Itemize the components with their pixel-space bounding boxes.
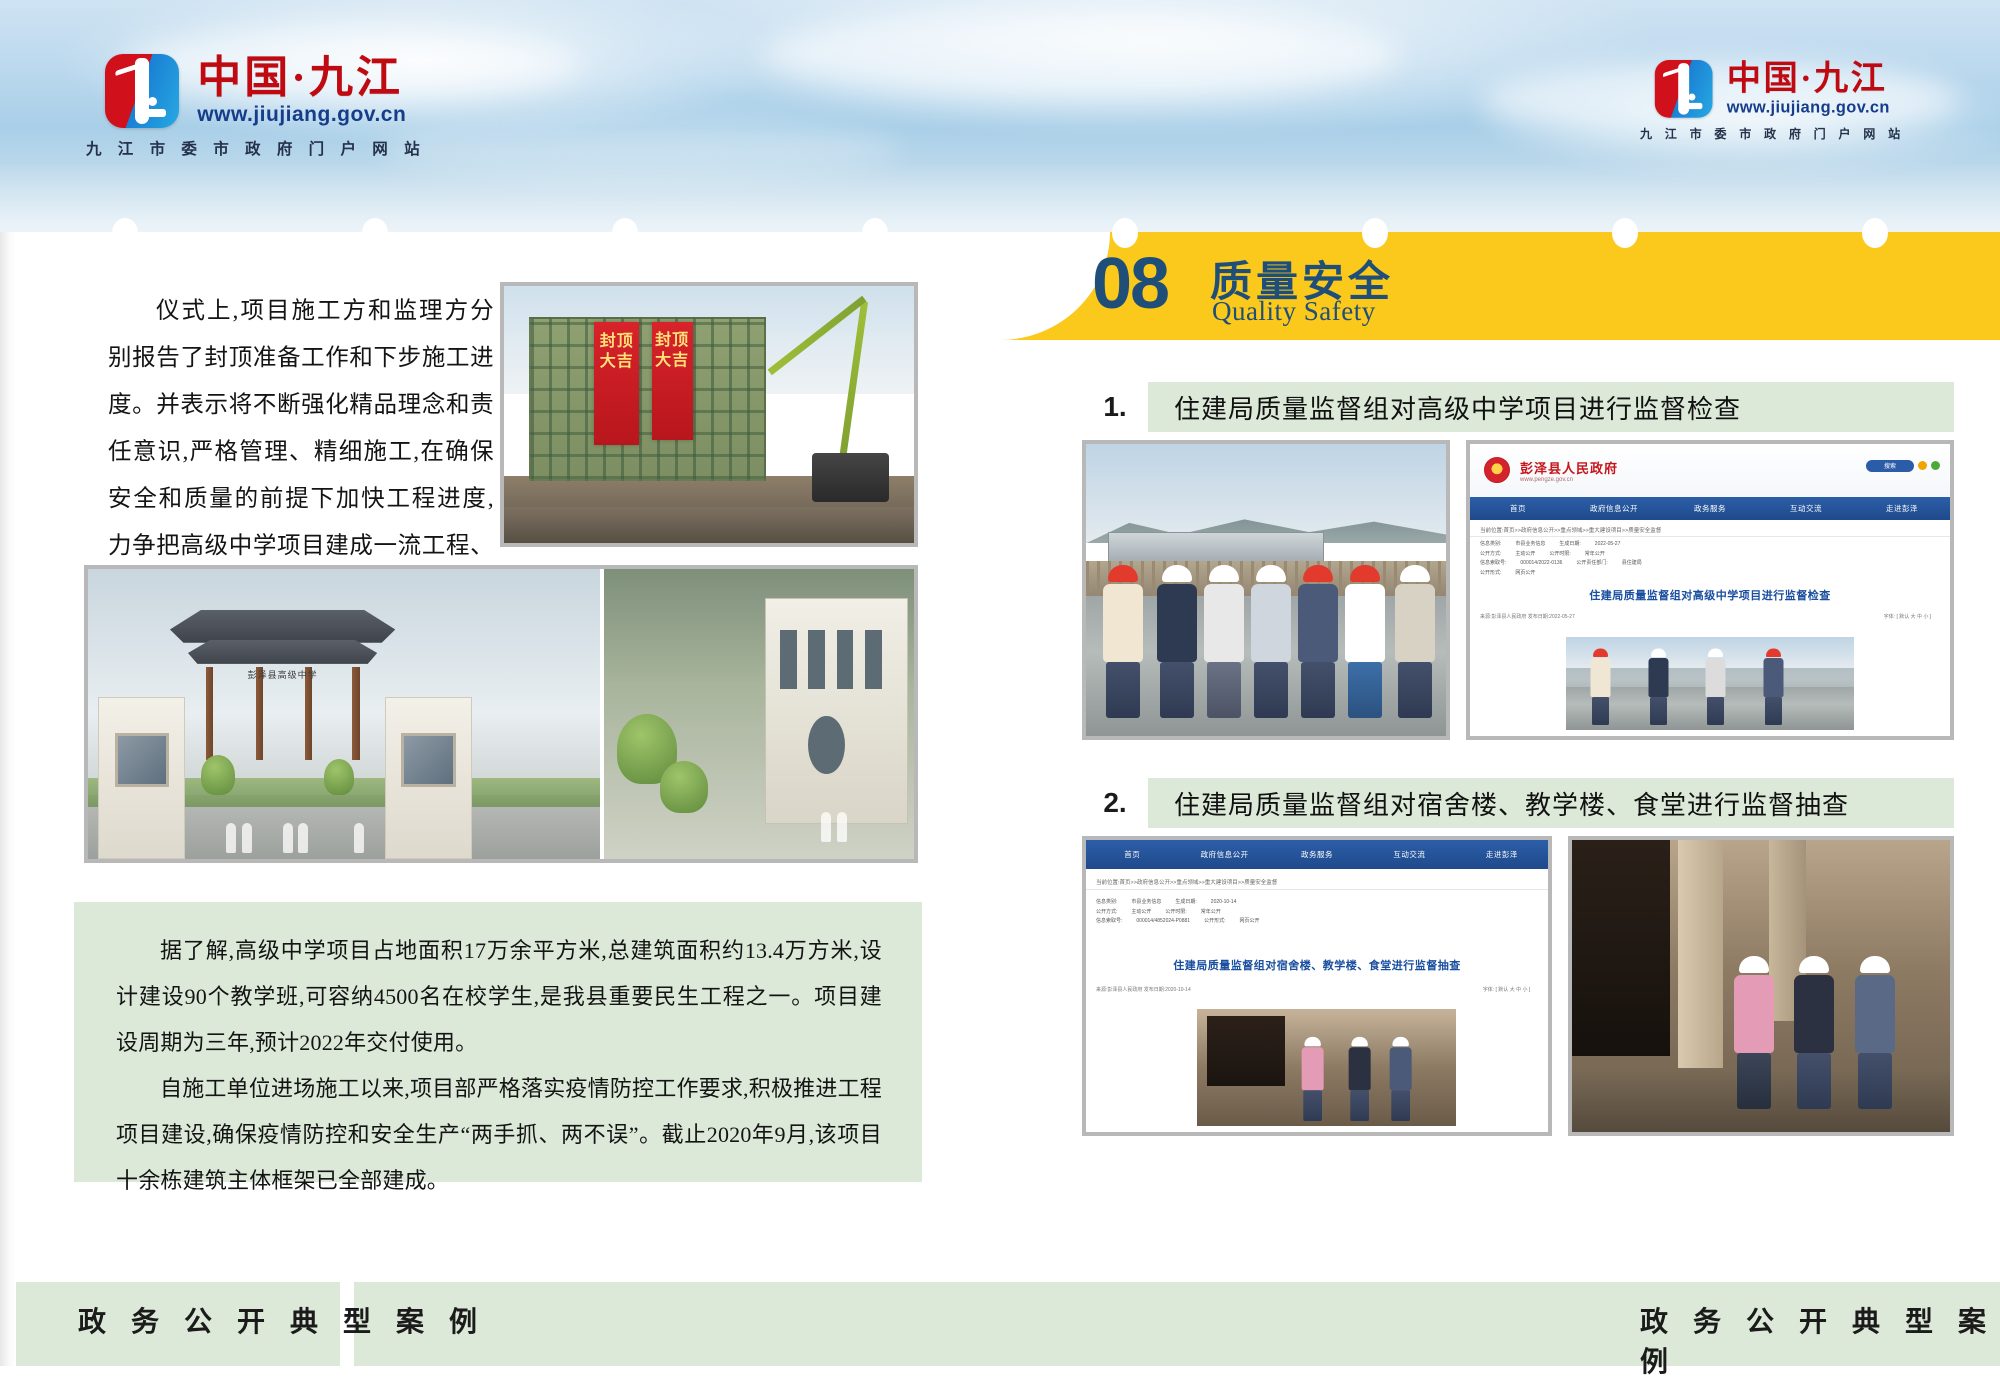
search-button[interactable]: 搜索 <box>1866 460 1914 472</box>
meta-value: 网页公开 <box>1515 569 1535 579</box>
brand-url: www.jiujiang.gov.cn <box>197 103 406 127</box>
webpage-article-photo-2 <box>1197 1009 1456 1126</box>
webpage-breadcrumb-1: 当前位置:首页>>政府信息公开>>重点领域>>重大建设项目>>质量安全监督 <box>1470 523 1950 538</box>
webpage-fontsize-2[interactable]: 字体: [ 默认 大 中 小 ] <box>1483 986 1531 993</box>
section-title-en: Quality Safety <box>1212 296 1376 327</box>
meta-value: 主动公开 <box>1131 908 1151 918</box>
meta-label: 信息类别: <box>1480 540 1501 550</box>
footer-caption-right: 政 务 公 开 典 型 案 例 <box>1640 1300 2000 1380</box>
meta-label: 信息类别: <box>1096 898 1117 908</box>
school-name-label: 彭泽县高级中学 <box>170 668 395 681</box>
nav-item[interactable]: 政府信息公开 <box>1178 849 1270 860</box>
site-logo-right: 中国·九江 www.jiujiang.gov.cn 九 江 市 委 市 政 府 … <box>1640 60 1905 142</box>
nav-item[interactable]: 首页 <box>1086 849 1178 860</box>
webpage-site-url-1: www.pengze.gov.cn <box>1520 477 1618 483</box>
brand-title: 中国·九江 <box>197 55 406 101</box>
meta-label: 生成日期: <box>1175 898 1196 908</box>
nav-item[interactable]: 政务服务 <box>1271 849 1363 860</box>
jiujiang-logo-icon <box>105 54 179 128</box>
meta-value: 2020-10-14 <box>1211 898 1237 908</box>
weibo-icon[interactable] <box>1931 461 1940 470</box>
webpage-meta-1: 信息类别: 市县业务信息 生成日期: 2022-05-27 公开方式: 主动公开… <box>1480 540 1931 578</box>
nav-item[interactable]: 政务服务 <box>1662 503 1758 514</box>
nav-item[interactable]: 政府信息公开 <box>1566 503 1662 514</box>
meta-value: 市县业务信息 <box>1131 898 1161 908</box>
meta-label: 公开形式: <box>1204 917 1225 927</box>
meta-label: 公开时限: <box>1549 550 1570 560</box>
punch-hole-row <box>0 218 2000 252</box>
banner-text: 封顶大吉 <box>652 331 693 371</box>
meta-value: 000014/4852024-P0881 <box>1136 917 1190 927</box>
brand-url: www.jiujiang.gov.cn <box>1727 98 1890 117</box>
subsection-header-1: 1. 住建局质量监督组对高级中学项目进行监督检查 <box>1082 382 1954 432</box>
meta-value: 000014/2022-0136 <box>1520 559 1562 569</box>
webpage-fontsize-1[interactable]: 字体: [ 默认 大 中 小 ] <box>1884 613 1932 620</box>
government-webpage-screenshot-1: 彭泽县人民政府 www.pengze.gov.cn 搜索 首页 政府信息公开 政… <box>1466 440 1954 740</box>
subsection-number-1: 1. <box>1082 382 1148 432</box>
nav-item[interactable]: 互动交流 <box>1758 503 1854 514</box>
webpage-source-date-1: 来源:彭泽县人民政府 发布日期:2022-05-27 <box>1480 613 1575 620</box>
site-inspection-photo-2 <box>1568 836 1954 1136</box>
meta-label: 公开时限: <box>1165 908 1186 918</box>
site-logo-left: 中国·九江 www.jiujiang.gov.cn 九 江 市 委 市 政 府 … <box>86 54 426 159</box>
subsection-number-2: 2. <box>1082 778 1148 828</box>
project-info-paragraph-1: 据了解,高级中学项目占地面积17万余平方米,总建筑面积约13.4万方米,设计建设… <box>116 928 882 1066</box>
subsection-header-2: 2. 住建局质量监督组对宿舍楼、教学楼、食堂进行监督抽查 <box>1082 778 1954 828</box>
meta-label: 信息索取号: <box>1480 559 1506 569</box>
meta-value: 市县业务信息 <box>1515 540 1545 550</box>
page-spine <box>0 232 16 1366</box>
meta-value: 网页公开 <box>1239 917 1259 927</box>
webpage-article-photo-1 <box>1566 637 1854 730</box>
nav-item[interactable]: 互动交流 <box>1363 849 1455 860</box>
webpage-tools-2: 来源:彭泽县人民政府 发布日期:2020-10-14 字体: [ 默认 大 中 … <box>1096 986 1530 993</box>
nav-item[interactable]: 走进彭泽 <box>1456 849 1548 860</box>
meta-value: 县住建局 <box>1622 559 1642 569</box>
brand-subtitle: 九 江 市 委 市 政 府 门 户 网 站 <box>86 137 426 159</box>
nav-item[interactable]: 首页 <box>1470 503 1566 514</box>
meta-label: 公开责任部门: <box>1576 559 1607 569</box>
webpage-search-area-1[interactable]: 搜索 <box>1866 460 1940 472</box>
topping-out-ceremony-photo: 封顶大吉 封顶大吉 <box>500 282 918 547</box>
meta-value: 2022-05-27 <box>1595 540 1621 550</box>
webpage-article-title-1: 住建局质量监督组对高级中学项目进行监督检查 <box>1470 587 1950 603</box>
cloud-decor <box>380 120 900 180</box>
site-inspection-photo-1 <box>1082 440 1450 740</box>
banner-text: 封顶大吉 <box>594 332 639 372</box>
webpage-site-name-1: 彭泽县人民政府 <box>1520 458 1618 477</box>
meta-value: 常年公开 <box>1585 550 1605 560</box>
subsection-title-2: 住建局质量监督组对宿舍楼、教学楼、食堂进行监督抽查 <box>1174 785 1849 822</box>
meta-label: 公开形式: <box>1480 569 1501 579</box>
jiujiang-logo-icon <box>1655 60 1713 118</box>
subsection-title-1: 住建局质量监督组对高级中学项目进行监督检查 <box>1174 389 1741 426</box>
webpage-breadcrumb-2: 当前位置:首页>>政府信息公开>>重点领域>>重大建设项目>>质量安全监督 <box>1086 875 1548 890</box>
project-info-paragraph-2: 自施工单位进场施工以来,项目部严格落实疫情防控工作要求,积极推进工程项目建设,确… <box>116 1066 882 1204</box>
meta-label: 生成日期: <box>1559 540 1580 550</box>
nav-item[interactable]: 走进彭泽 <box>1854 503 1950 514</box>
webpage-source-date-2: 来源:彭泽县人民政府 发布日期:2020-10-14 <box>1096 986 1191 993</box>
government-webpage-screenshot-2: 首页 政府信息公开 政务服务 互动交流 走进彭泽 当前位置:首页>>政府信息公开… <box>1082 836 1552 1136</box>
webpage-header-1: 彭泽县人民政府 www.pengze.gov.cn 搜索 <box>1470 444 1950 497</box>
national-emblem-icon <box>1484 457 1510 483</box>
school-architectural-rendering: 彭泽县高级中学 <box>84 565 918 863</box>
webpage-tools-1: 来源:彭泽县人民政府 发布日期:2022-05-27 字体: [ 默认 大 中 … <box>1480 613 1931 620</box>
footer-caption-left: 政 务 公 开 典 型 案 例 <box>78 1300 486 1340</box>
section-number: 08 <box>1092 243 1168 325</box>
project-info-panel: 据了解,高级中学项目占地面积17万余平方米,总建筑面积约13.4万方米,设计建设… <box>74 902 922 1182</box>
meta-value: 常年公开 <box>1201 908 1221 918</box>
brand-title: 中国·九江 <box>1727 61 1890 97</box>
meta-label: 公开方式: <box>1096 908 1117 918</box>
meta-value: 主动公开 <box>1515 550 1535 560</box>
meta-label: 公开方式: <box>1480 550 1501 560</box>
wechat-icon[interactable] <box>1918 461 1927 470</box>
brand-subtitle: 九 江 市 委 市 政 府 门 户 网 站 <box>1640 125 1905 142</box>
webpage-article-title-2: 住建局质量监督组对宿舍楼、教学楼、食堂进行监督抽查 <box>1086 957 1548 973</box>
webpage-meta-2: 信息类别: 市县业务信息 生成日期: 2020-10-14 公开方式: 主动公开… <box>1096 898 1530 927</box>
webpage-nav-2[interactable]: 首页 政府信息公开 政务服务 互动交流 走进彭泽 <box>1086 840 1548 869</box>
cloud-decor <box>760 10 1400 100</box>
webpage-nav-1[interactable]: 首页 政府信息公开 政务服务 互动交流 走进彭泽 <box>1470 497 1950 520</box>
meta-label: 信息索取号: <box>1096 917 1122 927</box>
